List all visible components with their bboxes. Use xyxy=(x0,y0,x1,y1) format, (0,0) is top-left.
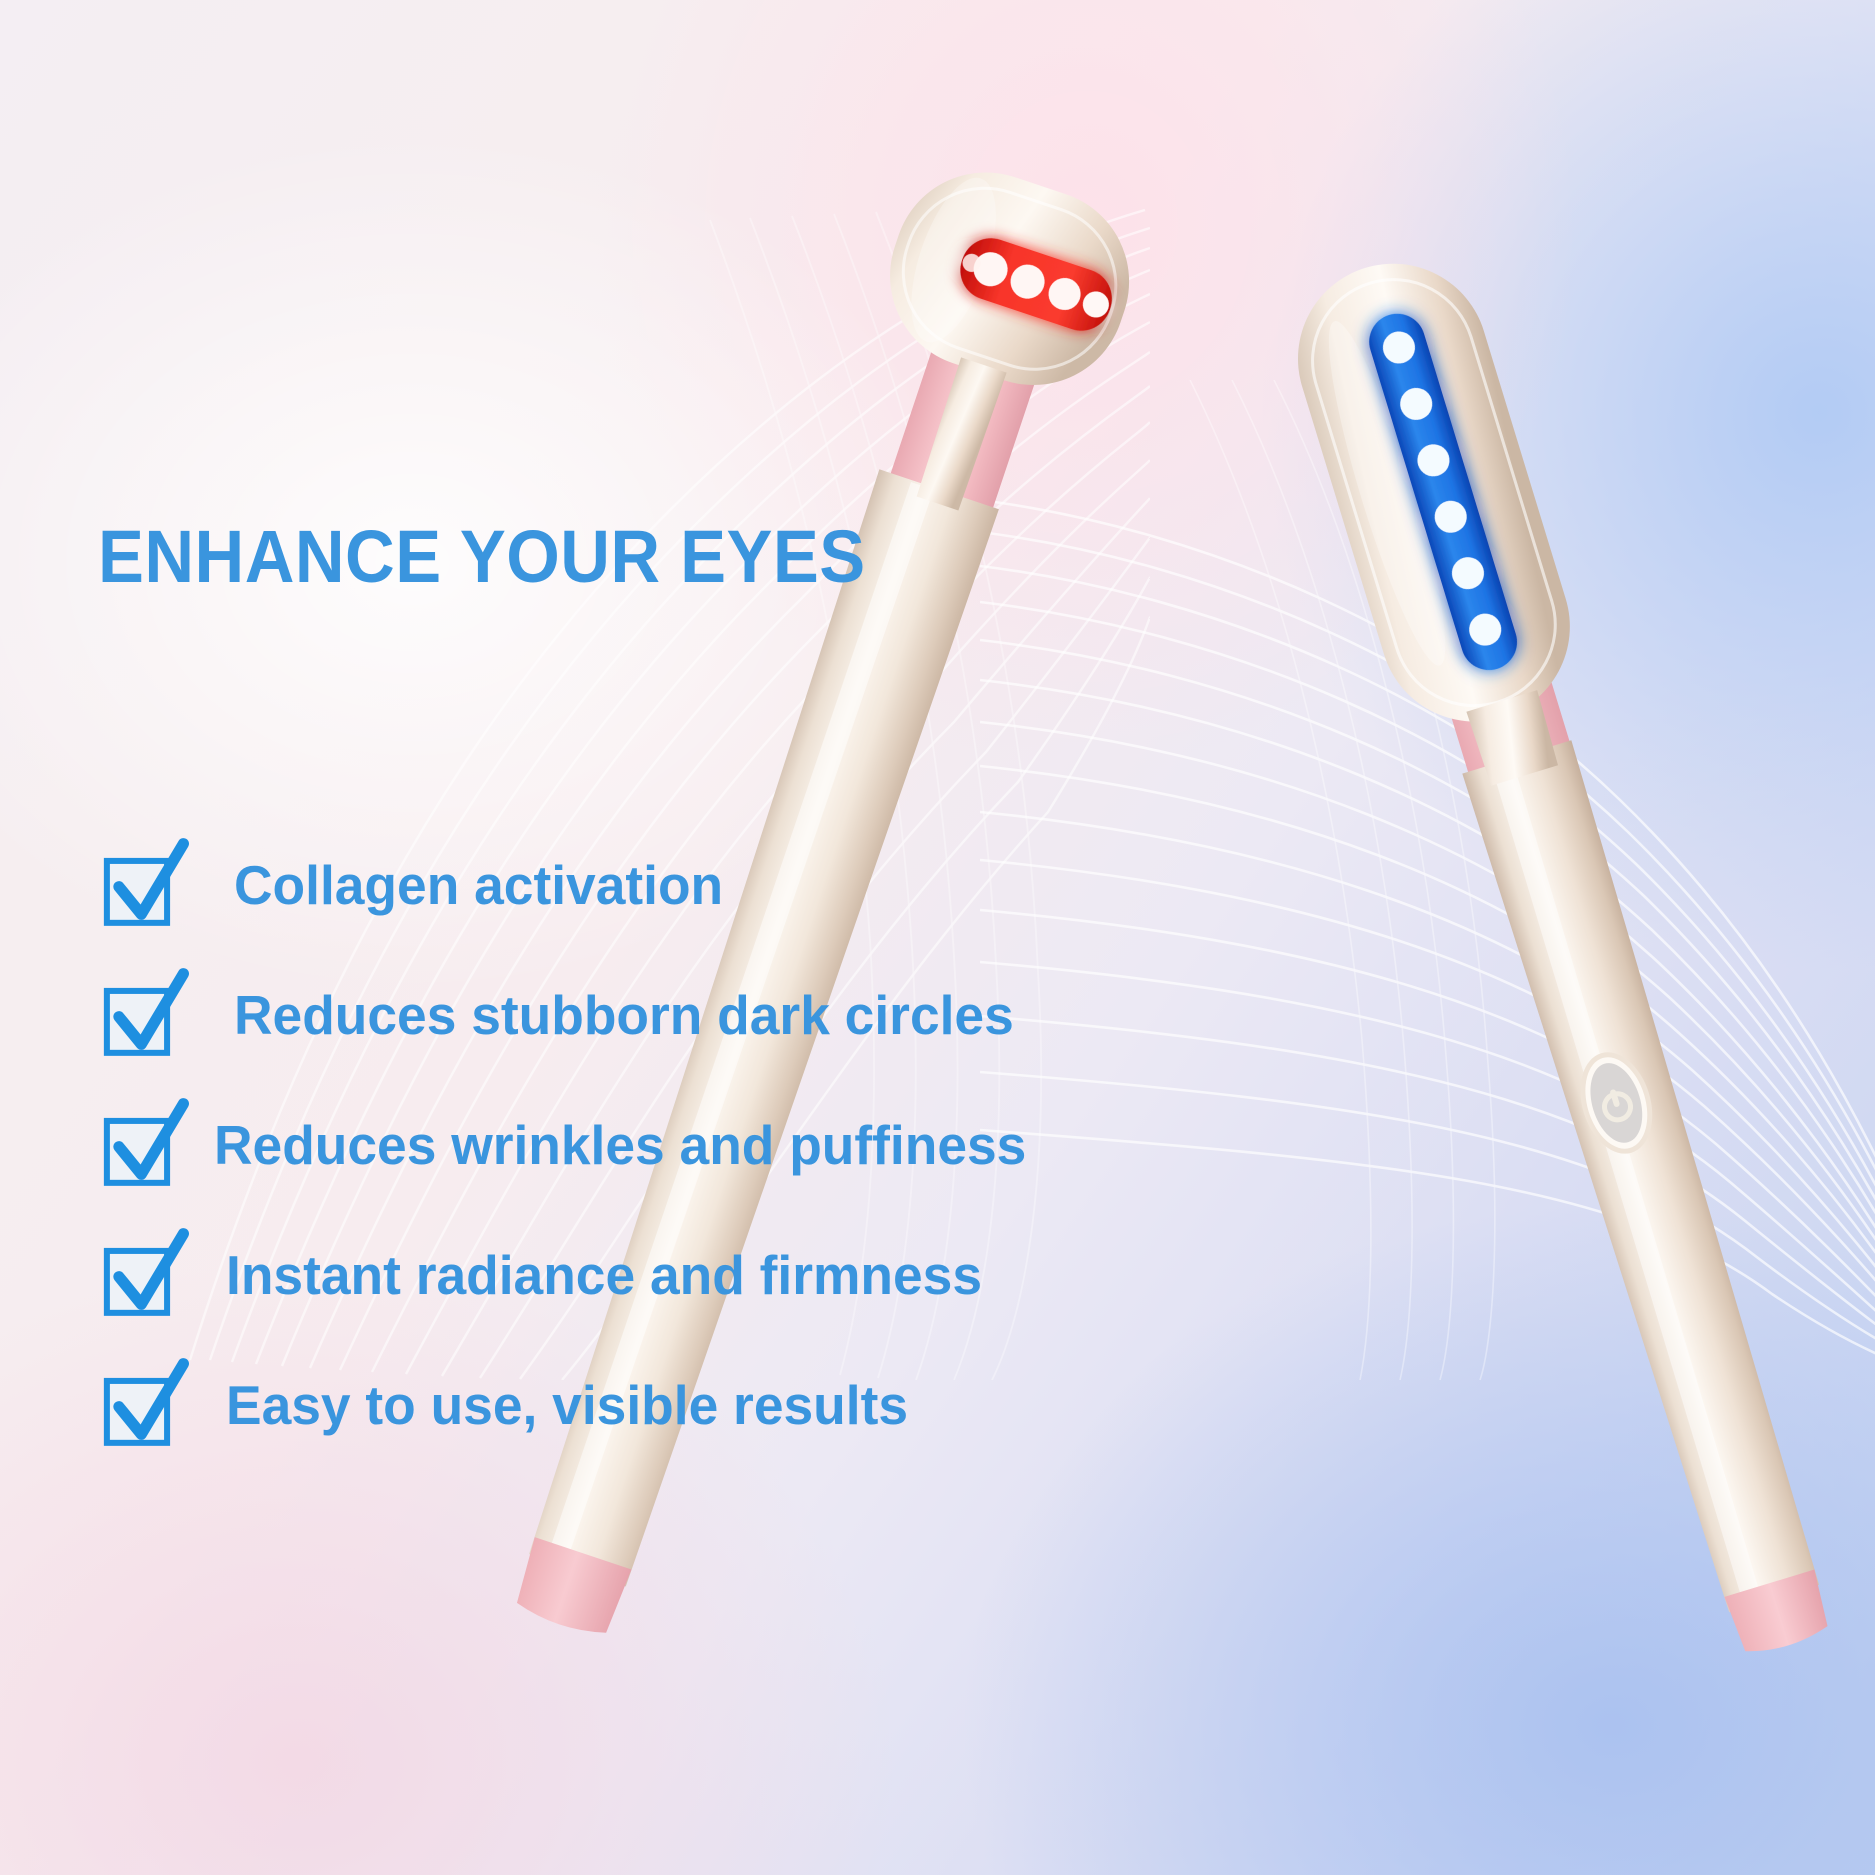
list-item: Instant radiance and firmness xyxy=(100,1222,1300,1328)
list-item-label: Easy to use, visible results xyxy=(226,1378,908,1433)
blue-wand-body xyxy=(1462,740,1828,1615)
checkbox-checked-icon xyxy=(100,842,186,928)
checkbox-checked-icon xyxy=(100,1102,186,1188)
list-item-label: Reduces stubborn dark circles xyxy=(234,988,1014,1043)
list-item: Reduces stubborn dark circles xyxy=(100,962,1300,1068)
list-item: Collagen activation xyxy=(100,832,1300,938)
page-title: ENHANCE YOUR EYES xyxy=(98,520,866,594)
checkbox-checked-icon xyxy=(100,972,186,1058)
benefits-checklist: Collagen activation Reduces stubborn dar… xyxy=(100,832,1300,1482)
product-blue-light-wand xyxy=(1261,229,1875,1688)
list-item-label: Collagen activation xyxy=(234,858,723,913)
list-item: Reduces wrinkles and puffiness xyxy=(100,1092,1300,1198)
list-item: Easy to use, visible results xyxy=(100,1352,1300,1458)
checkbox-checked-icon xyxy=(100,1362,186,1448)
list-item-label: Reduces wrinkles and puffiness xyxy=(214,1118,1026,1173)
checkbox-checked-icon xyxy=(100,1232,186,1318)
product-poster: ENHANCE YOUR EYES Collagen activation Re… xyxy=(0,0,1875,1875)
list-item-label: Instant radiance and firmness xyxy=(226,1248,982,1303)
